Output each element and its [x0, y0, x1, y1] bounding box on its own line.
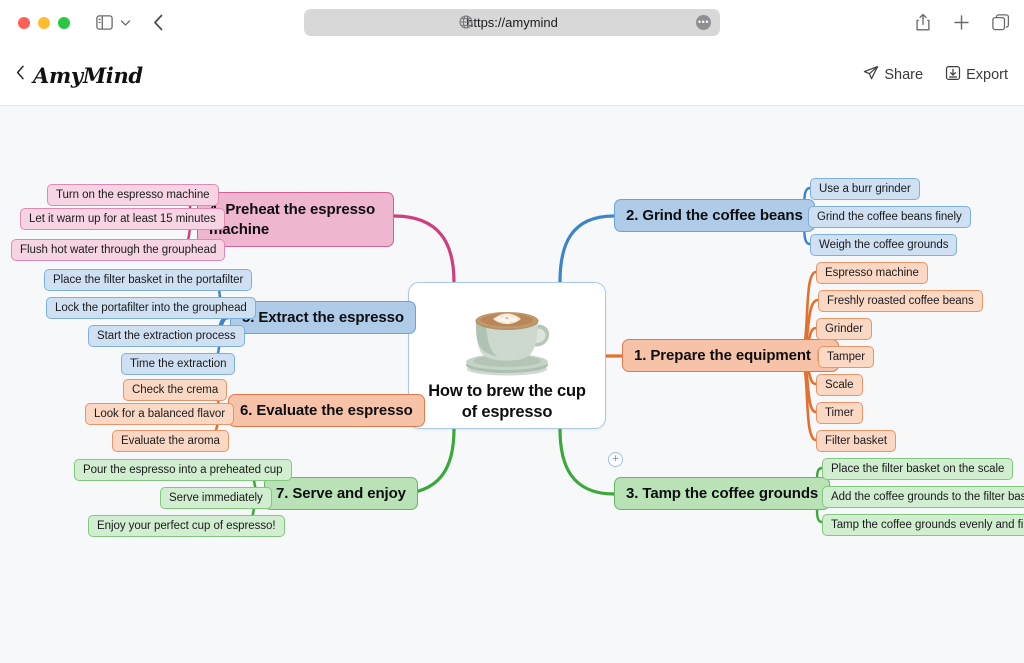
leaf-label: Flush hot water through the grouphead: [20, 244, 216, 256]
leaf-node[interactable]: Grinder: [816, 318, 872, 340]
browser-toolbar: https://amymind •••: [0, 0, 1024, 45]
chevron-down-icon[interactable]: [120, 19, 131, 27]
branch-node-prepare-label: 1. Prepare the equipment: [634, 347, 811, 364]
share-button[interactable]: Share: [863, 65, 923, 85]
leaf-node[interactable]: Flush hot water through the grouphead: [11, 239, 225, 261]
mindmap-canvas[interactable]: How to brew the cup of espresso + 2. Gri…: [0, 105, 1024, 663]
maximize-window-button[interactable]: [58, 17, 70, 29]
leaf-node[interactable]: Turn on the espresso machine: [47, 184, 219, 206]
leaf-label: Grind the coffee beans finely: [817, 211, 962, 223]
leaf-node[interactable]: Scale: [816, 374, 863, 396]
leaf-label: Evaluate the aroma: [121, 435, 220, 447]
leaf-node[interactable]: Tamper: [818, 346, 874, 368]
leaf-label: Place the filter basket on the scale: [831, 463, 1004, 475]
leaf-node[interactable]: Evaluate the aroma: [112, 430, 229, 452]
branch-node-serve-label: 7. Serve and enjoy: [276, 485, 406, 502]
share-upload-icon[interactable]: [915, 13, 931, 32]
leaf-node[interactable]: Serve immediately: [160, 487, 272, 509]
share-button-label: Share: [884, 67, 923, 83]
leaf-label: Check the crema: [132, 384, 218, 396]
export-button-label: Export: [966, 67, 1008, 83]
branch-node-tamp-label: 3. Tamp the coffee grounds: [626, 485, 818, 502]
leaf-label: Timer: [825, 407, 854, 419]
address-bar[interactable]: https://amymind •••: [304, 9, 720, 36]
leaf-label: Grinder: [825, 323, 863, 335]
leaf-label: Serve immediately: [169, 492, 263, 504]
leaf-label: Enjoy your perfect cup of espresso!: [97, 520, 276, 532]
new-tab-plus-icon[interactable]: [953, 14, 970, 31]
collapse-toggle-prepare[interactable]: +: [608, 452, 623, 467]
app-back-chevron-icon[interactable]: [16, 65, 25, 85]
more-options-icon[interactable]: •••: [696, 15, 711, 30]
leaf-label: Look for a balanced flavor: [94, 408, 225, 420]
branch-node-preheat-label: 4. Preheat the espresso machine: [209, 200, 382, 239]
globe-icon: [459, 15, 473, 34]
branch-node-extract[interactable]: 5. Extract the espresso: [230, 301, 416, 334]
leaf-label: Weigh the coffee grounds: [819, 239, 948, 251]
leaf-node[interactable]: Timer: [816, 402, 863, 424]
mindmap-root-node[interactable]: How to brew the cup of espresso: [408, 282, 606, 429]
leaf-label: Place the filter basket in the portafilt…: [53, 274, 243, 286]
leaf-node[interactable]: Espresso machine: [816, 262, 928, 284]
branch-node-extract-label: 5. Extract the espresso: [242, 309, 404, 326]
espresso-cup-photo: [447, 291, 567, 379]
leaf-label: Filter basket: [825, 435, 887, 447]
paper-plane-icon: [863, 65, 879, 85]
leaf-node[interactable]: Pour the espresso into a preheated cup: [74, 459, 292, 481]
brand-area[interactable]: AmyMind: [16, 63, 143, 88]
leaf-label: Let it warm up for at least 15 minutes: [29, 213, 216, 225]
leaf-node[interactable]: Time the extraction: [121, 353, 235, 375]
browser-back-button[interactable]: [153, 14, 164, 31]
leaf-label: Lock the portafilter into the grouphead: [55, 302, 247, 314]
download-box-icon: [945, 65, 961, 85]
branch-node-preheat[interactable]: 4. Preheat the espresso machine: [197, 192, 394, 247]
leaf-label: Tamp the coffee grounds evenly and firml…: [831, 519, 1024, 531]
branch-node-grind[interactable]: 2. Grind the coffee beans: [614, 199, 815, 232]
leaf-label: Tamper: [827, 351, 865, 363]
leaf-node[interactable]: Start the extraction process: [88, 325, 245, 347]
leaf-node[interactable]: Place the filter basket in the portafilt…: [44, 269, 252, 291]
leaf-node[interactable]: Freshly roasted coffee beans: [818, 290, 983, 312]
branch-node-tamp[interactable]: 3. Tamp the coffee grounds: [614, 477, 830, 510]
leaf-node[interactable]: Weigh the coffee grounds: [810, 234, 957, 256]
tab-overview-icon[interactable]: [992, 14, 1010, 31]
leaf-label: Start the extraction process: [97, 330, 236, 342]
branch-node-evaluate[interactable]: 6. Evaluate the espresso: [228, 394, 425, 427]
leaf-node[interactable]: Tamp the coffee grounds evenly and firml…: [822, 514, 1024, 536]
export-button[interactable]: Export: [945, 65, 1008, 85]
minimize-window-button[interactable]: [38, 17, 50, 29]
branch-node-serve[interactable]: 7. Serve and enjoy: [264, 477, 418, 510]
leaf-node[interactable]: Use a burr grinder: [810, 178, 920, 200]
leaf-label: Pour the espresso into a preheated cup: [83, 464, 283, 476]
browser-right-actions: [915, 0, 1010, 45]
leaf-node[interactable]: Place the filter basket on the scale: [822, 458, 1013, 480]
window-controls[interactable]: [18, 17, 70, 29]
mindmap-root-title: How to brew the cup of espresso: [409, 381, 605, 422]
leaf-label: Freshly roasted coffee beans: [827, 295, 974, 307]
header-actions: Share Export: [863, 45, 1008, 105]
leaf-node[interactable]: Check the crema: [123, 379, 227, 401]
app-header: AmyMind Share Export: [0, 45, 1024, 105]
leaf-label: Time the extraction: [130, 358, 226, 370]
leaf-label: Add the coffee grounds to the filter bas…: [831, 491, 1024, 503]
leaf-node[interactable]: Filter basket: [816, 430, 896, 452]
leaf-node[interactable]: Look for a balanced flavor: [85, 403, 234, 425]
branch-node-evaluate-label: 6. Evaluate the espresso: [240, 402, 413, 419]
app-brand-name: AmyMind: [33, 63, 143, 88]
leaf-label: Use a burr grinder: [819, 183, 911, 195]
leaf-label: Espresso machine: [825, 267, 919, 279]
leaf-node[interactable]: Let it warm up for at least 15 minutes: [20, 208, 225, 230]
close-window-button[interactable]: [18, 17, 30, 29]
leaf-node[interactable]: Enjoy your perfect cup of espresso!: [88, 515, 285, 537]
leaf-label: Turn on the espresso machine: [56, 189, 210, 201]
sidebar-toggle-icon[interactable]: [96, 15, 113, 30]
leaf-node[interactable]: Grind the coffee beans finely: [808, 206, 971, 228]
address-bar-url: https://amymind: [466, 15, 558, 30]
leaf-node[interactable]: Lock the portafilter into the grouphead: [46, 297, 256, 319]
branch-node-prepare[interactable]: 1. Prepare the equipment: [622, 339, 839, 372]
leaf-node[interactable]: Add the coffee grounds to the filter bas…: [822, 486, 1024, 508]
branch-node-grind-label: 2. Grind the coffee beans: [626, 207, 803, 224]
leaf-label: Scale: [825, 379, 854, 391]
